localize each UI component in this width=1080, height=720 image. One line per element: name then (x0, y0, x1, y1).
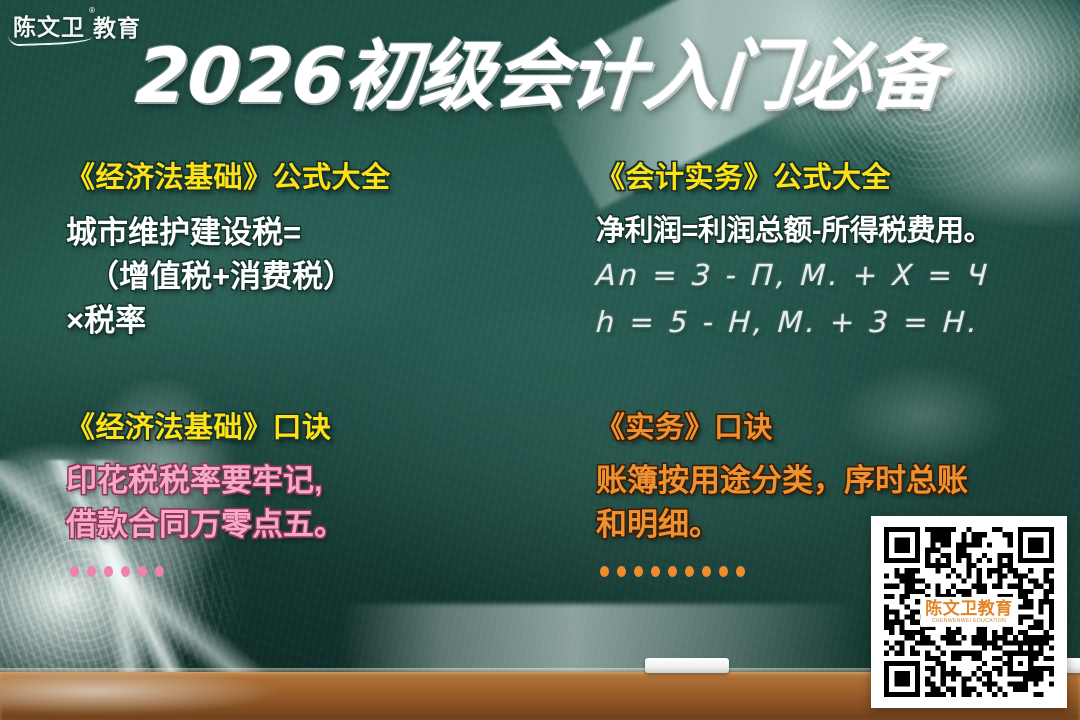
handwritten-formula-line: h = 5 - H, M. + 3 = H. (595, 299, 1067, 346)
ellipsis-dot (121, 566, 130, 577)
ellipsis-dot (617, 566, 626, 577)
ellipsis-dot (685, 566, 694, 577)
brand-logo-mark-text: 陈文卫 (13, 14, 85, 40)
ellipsis-dot (702, 566, 711, 577)
ellipsis-dot (719, 566, 728, 577)
formula-list: 城市维护建设税= （增值税+消费税） ×税率 (66, 211, 546, 343)
ellipsis-dot (634, 566, 643, 577)
registered-trademark-icon: ® (89, 6, 96, 15)
brand-logo-mark: 陈文卫 ® (10, 8, 88, 44)
section-accounting-practice-formulas: 《会计实务》公式大全 净利润=利润总额-所得税费用。 An = 3 - Π, M… (596, 160, 1066, 346)
ellipsis-dots-pink (66, 566, 546, 577)
page-title: 2026初级会计入门必备 (0, 38, 1080, 114)
formula-line: 净利润=利润总额-所得税费用。 (596, 211, 1066, 252)
mnemonic-list: 印花税税率要牢记, 借款合同万零点五。 (66, 459, 546, 549)
ellipsis-dot (155, 566, 164, 577)
page-title-text: 2026初级会计入门必备 (134, 38, 947, 114)
mnemonic-line: 印花税税率要牢记, (66, 459, 546, 504)
ledge-chalk-dust (0, 672, 430, 720)
handwritten-formula-line: An = 3 - Π, M. + X = Ч (595, 252, 1067, 299)
ellipsis-dot (138, 566, 147, 577)
ellipsis-dot (651, 566, 660, 577)
section-heading: 《会计实务》公式大全 (596, 160, 1066, 197)
qr-code-canvas: 陈文卫教育 CHENWENWEI EDUCATION (882, 527, 1056, 697)
qr-center-logo-main: 陈文卫教育 (925, 600, 1013, 617)
ellipsis-dot (600, 566, 609, 577)
chalk-smear-bottom (340, 604, 860, 674)
qr-code[interactable]: 陈文卫教育 CHENWENWEI EDUCATION (871, 516, 1067, 708)
formula-line: 城市维护建设税= (66, 211, 546, 255)
mnemonic-line: 借款合同万零点五。 (66, 503, 546, 548)
ellipsis-dot (104, 566, 113, 577)
ellipsis-dot (736, 566, 745, 577)
section-heading: 《实务》口诀 (596, 410, 1066, 447)
ellipsis-dot (668, 566, 677, 577)
ellipsis-dot (87, 566, 96, 577)
chalk-stick (645, 658, 729, 673)
section-heading: 《经济法基础》口诀 (66, 410, 546, 447)
mnemonic-line: 账簿按用途分类，序时总账 (596, 459, 1066, 504)
brand-logo: 陈文卫 ® 教育 (10, 8, 141, 44)
section-heading: 《经济法基础》公式大全 (66, 160, 546, 197)
formula-list: 净利润=利润总额-所得税费用。 An = 3 - Π, M. + X = Ч h… (596, 211, 1066, 346)
qr-center-logo: 陈文卫教育 CHENWENWEI EDUCATION (920, 597, 1018, 627)
chalkboard-poster: 陈文卫 ® 教育 2026初级会计入门必备 《经济法基础》公式大全 城市维护建设… (0, 0, 1080, 720)
ellipsis-dot (70, 566, 79, 577)
formula-line: ×税率 (66, 299, 546, 343)
section-economic-law-formulas: 《经济法基础》公式大全 城市维护建设税= （增值税+消费税） ×税率 (66, 160, 546, 343)
section-economic-law-mnemonic: 《经济法基础》口诀 印花税税率要牢记, 借款合同万零点五。 (66, 410, 546, 577)
brand-logo-word: 教育 (93, 9, 141, 43)
formula-line: （增值税+消费税） (66, 255, 546, 299)
qr-center-logo-sub: CHENWENWEI EDUCATION (925, 619, 1013, 624)
